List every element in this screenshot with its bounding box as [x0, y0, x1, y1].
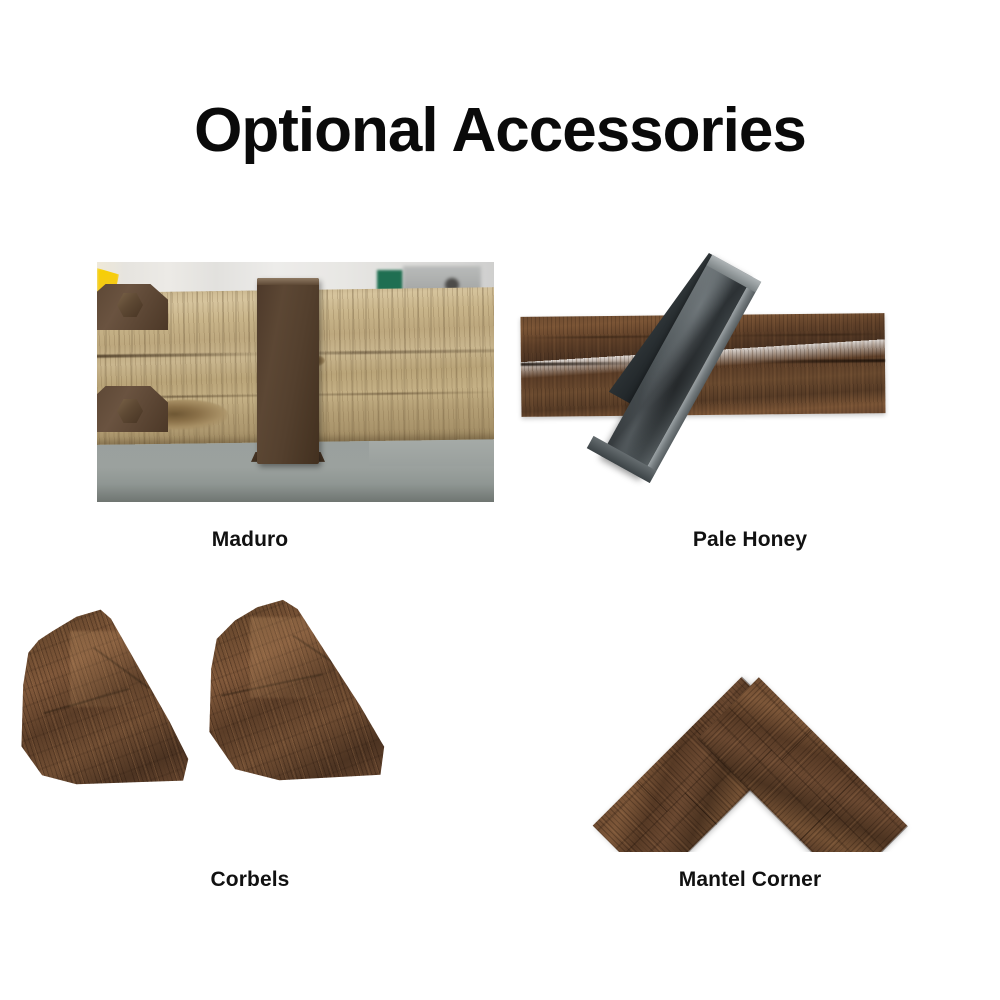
mantel-plank: [799, 809, 878, 852]
corbel-block-right: [202, 598, 386, 784]
product-label-pale-honey: Pale Honey: [500, 528, 1000, 552]
maduro-wood-knot-small: [291, 354, 325, 368]
corbels-composition: [0, 580, 500, 852]
product-image-maduro[interactable]: [0, 240, 500, 512]
corbel-block-left: [18, 606, 190, 786]
mantel-plank: [692, 676, 773, 757]
product-image-pale-honey[interactable]: [500, 240, 1000, 512]
product-cell-maduro[interactable]: Maduro: [0, 240, 500, 580]
accessories-page: { "page": { "title": "Optional Accessori…: [0, 0, 1000, 1000]
maduro-grey-object: [403, 266, 481, 300]
mantel-plank: [827, 776, 908, 852]
mantel-plank: [622, 792, 717, 852]
mantel-corner-composition: [500, 580, 1000, 852]
mantel-plank: [726, 706, 804, 784]
product-cell-corbels[interactable]: Corbels: [0, 580, 500, 920]
pale-honey-composition: [500, 240, 1000, 512]
mantel-plank: [740, 749, 832, 841]
mantel-corner-arm-right: [698, 677, 907, 852]
steel-angle-bottom-end: [587, 436, 657, 483]
steel-angle-face: [601, 255, 753, 478]
corbel-seam: [292, 634, 351, 675]
maduro-floor-step: [369, 430, 494, 466]
product-image-corbels[interactable]: [0, 580, 500, 852]
mantel-plank: [728, 677, 811, 760]
steel-angle-edge: [641, 277, 761, 483]
product-image-mantel-corner[interactable]: [500, 580, 1000, 852]
maduro-wood-beam: [97, 287, 494, 445]
maduro-hex-bolt-top: [117, 292, 143, 318]
pale-honey-steel-angle: [578, 242, 770, 488]
corbel-seam: [44, 687, 131, 714]
maduro-hex-bolt-bottom: [117, 398, 143, 424]
corbel-seam: [93, 647, 150, 689]
maduro-backdrop: [97, 262, 494, 314]
maduro-metal-strap: [257, 278, 319, 464]
steel-angle-top-end: [706, 255, 761, 293]
maduro-green-object: [377, 270, 403, 296]
maduro-dark-object: [445, 278, 459, 292]
mantel-plank: [637, 726, 723, 812]
mantel-plank: [685, 751, 759, 825]
mantel-plank: [697, 707, 772, 782]
product-cell-mantel-corner[interactable]: Mantel Corner: [500, 580, 1000, 920]
maduro-strap-top-edge: [257, 278, 319, 285]
maduro-wood-knot: [141, 399, 227, 430]
maduro-strap-plate-bottom: [97, 386, 168, 432]
maduro-concrete-floor: [97, 430, 494, 502]
product-label-maduro: Maduro: [0, 528, 500, 552]
product-label-corbels: Corbels: [0, 868, 500, 892]
maduro-strap-foot: [251, 452, 325, 468]
maduro-strap-plate-top: [97, 284, 168, 330]
corbel-highlight: [70, 631, 153, 707]
product-cell-pale-honey[interactable]: Pale Honey: [500, 240, 1000, 580]
corbel-seam: [221, 673, 322, 696]
pale-honey-wood-plank: [520, 313, 885, 417]
mantel-plank: [593, 781, 668, 852]
page-title: Optional Accessories: [0, 100, 1000, 162]
accessories-grid: Maduro Pale Honey: [0, 240, 1000, 920]
maduro-photo: [97, 262, 494, 502]
mantel-corner-arm-left: [593, 677, 802, 852]
maduro-yellow-object: [97, 268, 119, 314]
mantel-plank: [781, 730, 859, 808]
steel-angle-wing: [609, 243, 714, 404]
corbel-highlight: [250, 617, 346, 699]
product-label-mantel-corner: Mantel Corner: [500, 868, 1000, 892]
